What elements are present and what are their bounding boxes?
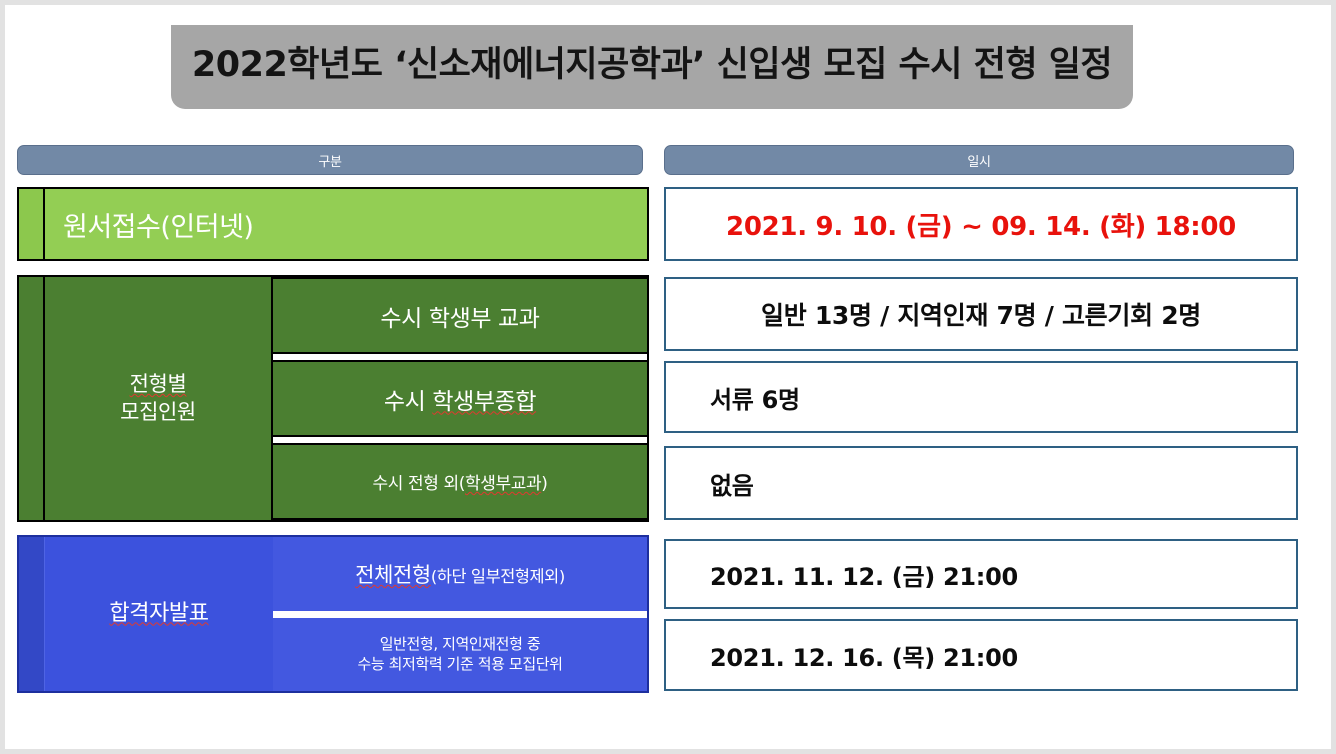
column-header-date: 일시 [664, 145, 1294, 175]
row-apply-accent-strip [19, 189, 45, 259]
row-quota-category: 전형별 모집인원 수시 학생부 교과 수시 학생부종합 수시 전형 외(학생부교… [17, 275, 649, 522]
row-quota-date-cell-1: 일반 13명 / 지역인재 7명 / 고른기회 2명 [664, 277, 1298, 351]
row-result-date-text-2: 2021. 12. 16. (목) 21:00 [710, 638, 1018, 673]
row-result-sub-2: 일반전형, 지역인재전형 중 수능 최저학력 기준 적용 모집단위 [273, 618, 647, 692]
row-result-sub-1-label: 전체전형(하단 일부전형제외) [355, 559, 565, 589]
row-quota-sub-3: 수시 전형 외(학생부교과) [273, 443, 647, 520]
row-quota-date-text-3: 없음 [710, 466, 754, 501]
row-quota-date-cell-2: 서류 6명 [664, 361, 1298, 433]
row-quota-sub-column: 수시 학생부 교과 수시 학생부종합 수시 전형 외(학생부교과) [273, 277, 647, 520]
row-quota-sub-2-label: 수시 학생부종합 [384, 382, 536, 416]
row-quota-label-line1: 전형별 [130, 372, 187, 396]
row-result-category: 합격자발표 전체전형(하단 일부전형제외) 일반전형, 지역인재전형 중 수능 … [17, 535, 649, 693]
row-quota-sub-1: 수시 학생부 교과 [273, 277, 647, 354]
row-apply-label: 원서접수(인터넷) [63, 205, 253, 244]
row-result-date-cell-1: 2021. 11. 12. (금) 21:00 [664, 539, 1298, 609]
slide-canvas: 2022학년도 ‘신소재에너지공학과’ 신입생 모집 수시 전형 일정 구분 일… [0, 0, 1336, 754]
row-apply-category: 원서접수(인터넷) [17, 187, 649, 261]
row-result-label: 합격자발표 [109, 600, 208, 629]
slide-title-bar: 2022학년도 ‘신소재에너지공학과’ 신입생 모집 수시 전형 일정 [171, 25, 1133, 109]
row-apply-body: 원서접수(인터넷) [45, 189, 647, 259]
column-header-category: 구분 [17, 145, 643, 175]
row-quota-accent-strip [19, 277, 45, 520]
row-quota-body: 전형별 모집인원 수시 학생부 교과 수시 학생부종합 수시 전형 외(학생부교… [45, 277, 647, 520]
row-quota-label: 전형별 모집인원 [120, 371, 196, 426]
row-apply-date-text: 2021. 9. 10. (금) ~ 09. 14. (화) 18:00 [726, 206, 1236, 243]
column-header-date-label: 일시 [967, 151, 990, 170]
row-quota-sub-1-label: 수시 학생부 교과 [380, 299, 539, 333]
row-result-sub-2-label: 일반전형, 지역인재전형 중 수능 최저학력 기준 적용 모집단위 [357, 634, 562, 675]
row-quota-date-text-2: 서류 6명 [710, 380, 800, 415]
column-header-category-label: 구분 [318, 151, 341, 170]
row-result-accent-strip [19, 537, 45, 691]
row-quota-date-text-1: 일반 13명 / 지역인재 7명 / 고른기회 2명 [761, 296, 1201, 332]
row-quota-sub-3-label: 수시 전형 외(학생부교과) [373, 469, 548, 494]
row-quota-label-line2: 모집인원 [120, 400, 196, 424]
page-title: 2022학년도 ‘신소재에너지공학과’ 신입생 모집 수시 전형 일정 [192, 36, 1112, 87]
row-quota-date-cell-3: 없음 [664, 446, 1298, 520]
row-result-sub-1: 전체전형(하단 일부전형제외) [273, 537, 647, 611]
row-result-date-text-1: 2021. 11. 12. (금) 21:00 [710, 557, 1018, 592]
row-apply-date-cell: 2021. 9. 10. (금) ~ 09. 14. (화) 18:00 [664, 187, 1298, 261]
row-quota-sub-2: 수시 학생부종합 [273, 360, 647, 437]
row-quota-label-cell: 전형별 모집인원 [45, 277, 273, 520]
row-result-body: 합격자발표 전체전형(하단 일부전형제외) 일반전형, 지역인재전형 중 수능 … [45, 537, 647, 691]
row-result-label-cell: 합격자발표 [45, 537, 273, 691]
row-result-sub-column: 전체전형(하단 일부전형제외) 일반전형, 지역인재전형 중 수능 최저학력 기… [273, 537, 647, 691]
row-result-date-cell-2: 2021. 12. 16. (목) 21:00 [664, 619, 1298, 691]
